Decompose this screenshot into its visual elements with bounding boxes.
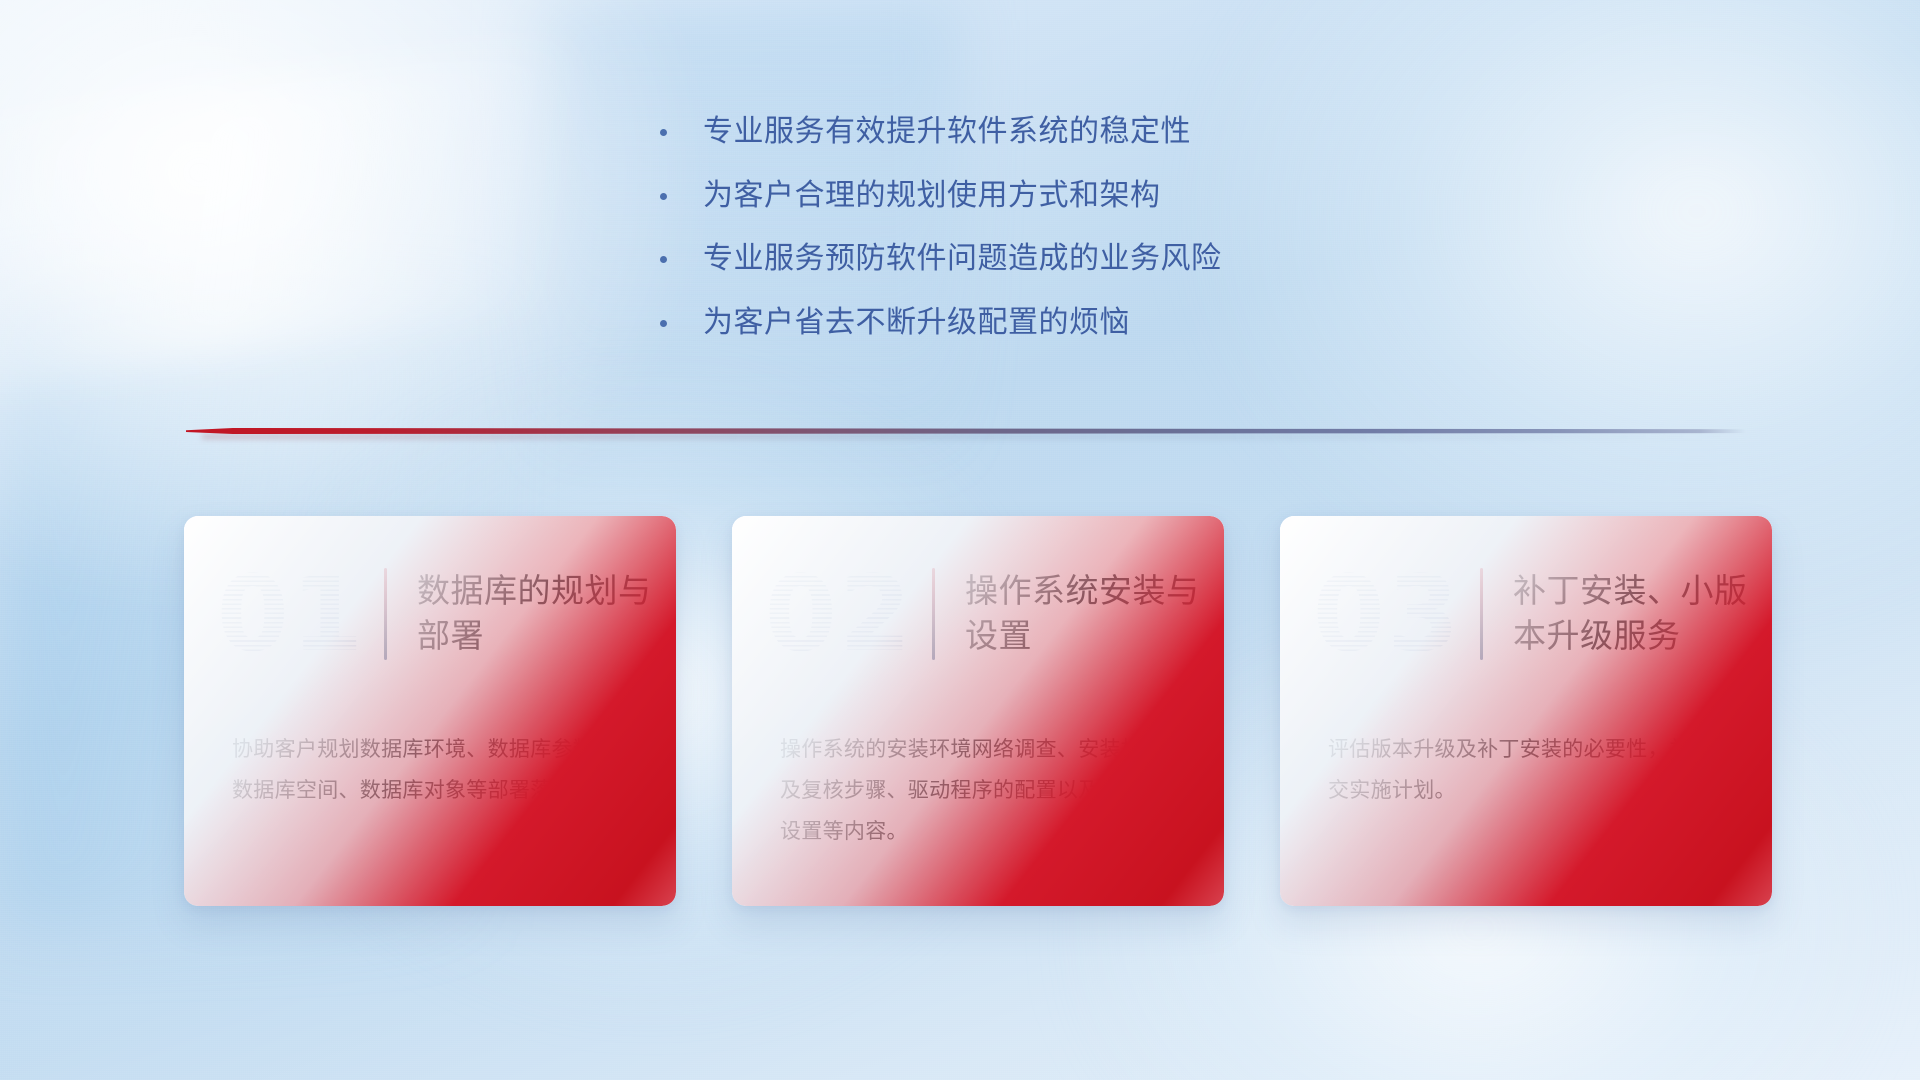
list-item: 专业服务预防软件问题造成的业务风险: [660, 239, 1222, 279]
card-title-rule: [1480, 568, 1483, 660]
bullet-dot-icon: [660, 256, 667, 263]
divider-shadow: [202, 434, 1731, 439]
benefits-bullet-list: 专业服务有效提升软件系统的稳定性 为客户合理的规划使用方式和架构 专业服务预防软…: [660, 112, 1222, 342]
card-title: 补丁安装、小版本升级服务: [1513, 569, 1772, 659]
bullet-text: 专业服务有效提升软件系统的稳定性: [703, 112, 1191, 152]
card-header: 02 操作系统安装与设置: [732, 516, 1224, 712]
card-title-rule: [384, 568, 387, 660]
bullet-text: 专业服务预防软件问题造成的业务风险: [703, 239, 1222, 279]
bullet-dot-icon: [660, 129, 667, 136]
card-description: 协助客户规划数据库环境、数据库参数、数据库空间、数据库对象等部署落地。: [232, 730, 636, 812]
card-number-watermark: 03: [1294, 562, 1480, 666]
bullet-dot-icon: [660, 320, 667, 327]
bullet-dot-icon: [660, 193, 667, 200]
list-item: 专业服务有效提升软件系统的稳定性: [660, 112, 1222, 152]
card-number-watermark: 01: [198, 562, 384, 666]
list-item: 为客户合理的规划使用方式和架构: [660, 176, 1222, 216]
card-title: 数据库的规划与部署: [417, 569, 676, 659]
list-item: 为客户省去不断升级配置的烦恼: [660, 303, 1222, 343]
card-title-rule: [932, 568, 935, 660]
section-divider: [186, 424, 1746, 438]
service-card[interactable]: 03 补丁安装、小版本升级服务 评估版本升级及补丁安装的必要性，并提交实施计划。: [1280, 516, 1772, 906]
card-header: 03 补丁安装、小版本升级服务: [1280, 516, 1772, 712]
card-number-watermark: 02: [746, 562, 932, 666]
card-header: 01 数据库的规划与部署: [184, 516, 676, 712]
service-card[interactable]: 02 操作系统安装与设置 操作系统的安装环境网络调查、安装标准及复核步骤、驱动程…: [732, 516, 1224, 906]
bullet-text: 为客户合理的规划使用方式和架构: [703, 176, 1161, 216]
service-card[interactable]: 01 数据库的规划与部署 协助客户规划数据库环境、数据库参数、数据库空间、数据库…: [184, 516, 676, 906]
card-description: 操作系统的安装环境网络调查、安装标准及复核步骤、驱动程序的配置以及系统的设置等内…: [780, 730, 1184, 853]
service-card-group: 01 数据库的规划与部署 协助客户规划数据库环境、数据库参数、数据库空间、数据库…: [184, 516, 1772, 906]
card-title: 操作系统安装与设置: [965, 569, 1224, 659]
divider-line: [186, 428, 1746, 434]
card-description: 评估版本升级及补丁安装的必要性，并提交实施计划。: [1328, 730, 1732, 812]
bullet-text: 为客户省去不断升级配置的烦恼: [703, 303, 1130, 343]
